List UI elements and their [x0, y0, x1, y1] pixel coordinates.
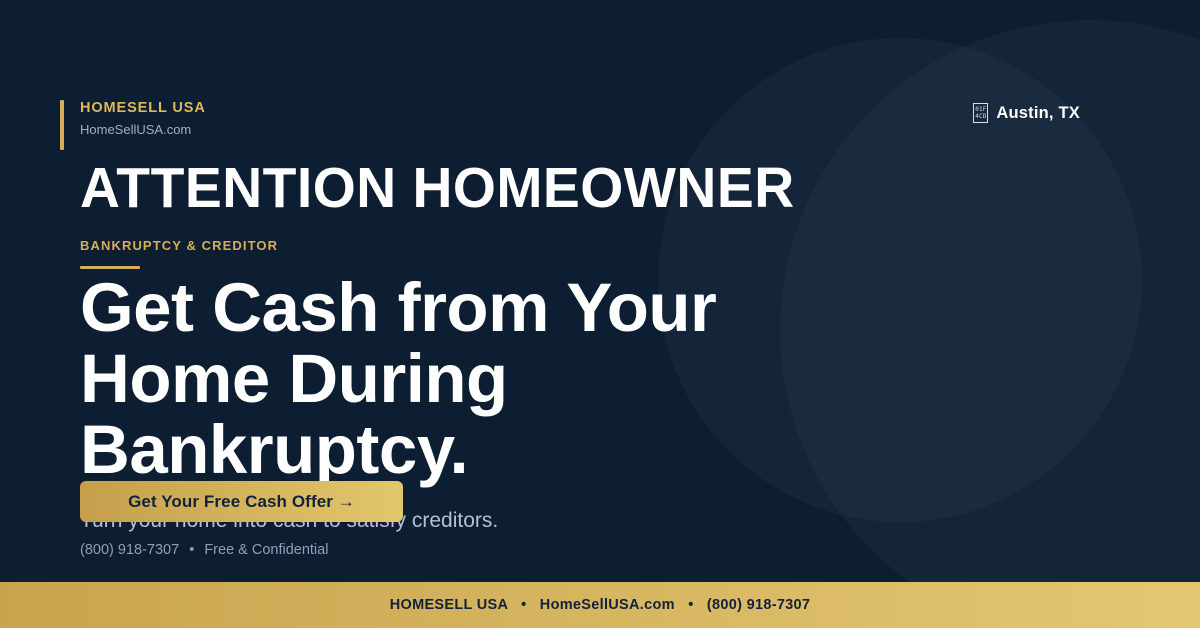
contact-separator: • [183, 542, 200, 558]
cta-button[interactable]: Get Your Free Cash Offer → [80, 481, 403, 522]
headline-line-1: Get Cash from Your [80, 272, 840, 343]
footer-bar: HOMESELL USA • HomeSellUSA.com • (800) 9… [0, 582, 1200, 628]
brand-row: HOMESELL USA HomeSellUSA.com 01F 4CD Aus… [60, 100, 1140, 152]
map-pin-icon: 01F 4CD [973, 103, 988, 123]
headline-line-3: Bankruptcy. [80, 414, 840, 485]
brand-name: HOMESELL USA [80, 100, 206, 117]
brand-website: HomeSellUSA.com [80, 122, 206, 138]
footer-separator-1: • [512, 597, 535, 613]
headline-line-2: Home During [80, 343, 840, 414]
brand-block: HOMESELL USA HomeSellUSA.com [80, 100, 206, 138]
eyebrow-block: BANKRUPTCY & CREDITOR [80, 238, 278, 269]
eyebrow-label: BANKRUPTCY & CREDITOR [80, 238, 278, 254]
attention-heading: ATTENTION HOMEOWNER [80, 160, 795, 217]
footer-separator-2: • [679, 597, 702, 613]
footer-website[interactable]: HomeSellUSA.com [540, 597, 675, 613]
location-badge: 01F 4CD Austin, TX [973, 103, 1080, 123]
ad-poster: HOMESELL USA HomeSellUSA.com 01F 4CD Aus… [0, 0, 1200, 628]
footer-phone[interactable]: (800) 918-7307 [707, 597, 810, 613]
contact-phone[interactable]: (800) 918-7307 [80, 542, 179, 558]
footer-brand: HOMESELL USA [390, 597, 508, 613]
contact-line: (800) 918-7307 • Free & Confidential [80, 540, 328, 560]
gold-accent-bar [60, 100, 64, 150]
footer-text: HOMESELL USA • HomeSellUSA.com • (800) 9… [390, 597, 811, 613]
map-pin-icon-codepoint-top: 01F [975, 106, 986, 114]
location-label: Austin, TX [996, 104, 1080, 123]
map-pin-icon-codepoint-bottom: 4CD [975, 113, 986, 121]
contact-note: Free & Confidential [204, 542, 328, 558]
main-headline: Get Cash from Your Home During Bankruptc… [80, 272, 840, 485]
